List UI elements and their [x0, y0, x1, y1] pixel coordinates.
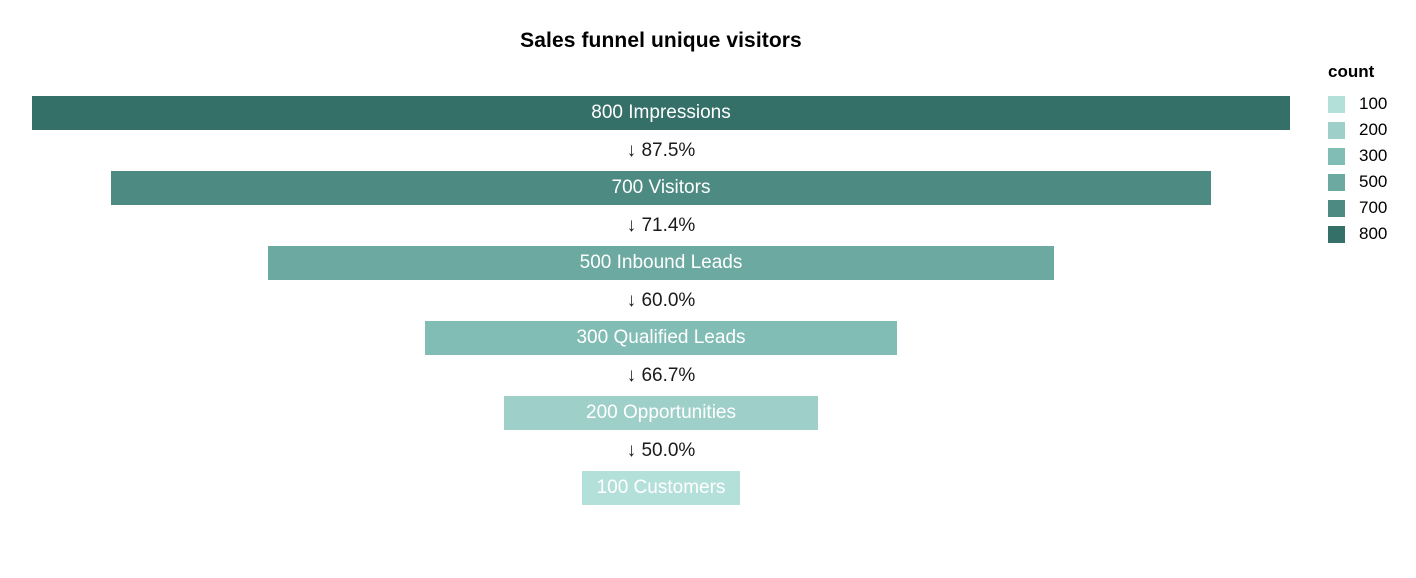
- funnel-bar[interactable]: 800 Impressions: [32, 96, 1290, 130]
- legend-item[interactable]: 500: [1328, 169, 1416, 195]
- legend-item[interactable]: 100: [1328, 91, 1416, 117]
- chart-title: Sales funnel unique visitors: [0, 27, 1322, 55]
- funnel-bar-label: 300 Qualified Leads: [576, 327, 745, 349]
- legend-title: count: [1328, 62, 1416, 82]
- legend-label: 300: [1359, 146, 1387, 166]
- funnel-bar-label: 500 Inbound Leads: [580, 252, 743, 274]
- legend-label: 700: [1359, 198, 1387, 218]
- legend-swatch: [1328, 148, 1345, 165]
- funnel-stage: 300 Qualified Leads: [0, 321, 1322, 355]
- funnel-stage: 700 Visitors: [0, 171, 1322, 205]
- funnel-stage: 100 Customers: [0, 471, 1322, 505]
- funnel-bar[interactable]: 100 Customers: [582, 471, 739, 505]
- legend-item[interactable]: 300: [1328, 143, 1416, 169]
- legend-swatch: [1328, 200, 1345, 217]
- funnel-conversion-row: ↓ 87.5%: [0, 130, 1322, 171]
- funnel-bar-label: 700 Visitors: [612, 177, 711, 199]
- legend-label: 200: [1359, 120, 1387, 140]
- legend-label: 100: [1359, 94, 1387, 114]
- legend-swatch: [1328, 174, 1345, 191]
- funnel-bar[interactable]: 300 Qualified Leads: [425, 321, 897, 355]
- funnel-conversion-row: ↓ 50.0%: [0, 430, 1322, 471]
- legend-item[interactable]: 200: [1328, 117, 1416, 143]
- funnel-conversion-row: ↓ 66.7%: [0, 355, 1322, 396]
- funnel-stack: 800 Impressions↓ 87.5%700 Visitors↓ 71.4…: [0, 96, 1322, 505]
- funnel-stage: 500 Inbound Leads: [0, 246, 1322, 280]
- funnel-conversion-label: ↓ 66.7%: [627, 365, 696, 387]
- funnel-bar-label: 100 Customers: [597, 477, 726, 499]
- funnel-bar-label: 200 Opportunities: [586, 402, 736, 424]
- funnel-bar[interactable]: 200 Opportunities: [504, 396, 819, 430]
- legend: count 100200300500700800: [1328, 62, 1416, 247]
- funnel-stage: 200 Opportunities: [0, 396, 1322, 430]
- legend-swatch: [1328, 122, 1345, 139]
- legend-items: 100200300500700800: [1328, 91, 1416, 247]
- funnel-conversion-label: ↓ 87.5%: [627, 140, 696, 162]
- legend-label: 500: [1359, 172, 1387, 192]
- funnel-bar-label: 800 Impressions: [591, 102, 730, 124]
- legend-swatch: [1328, 226, 1345, 243]
- legend-label: 800: [1359, 224, 1387, 244]
- funnel-conversion-row: ↓ 60.0%: [0, 280, 1322, 321]
- funnel-conversion-row: ↓ 71.4%: [0, 205, 1322, 246]
- funnel-conversion-label: ↓ 71.4%: [627, 215, 696, 237]
- funnel-stage: 800 Impressions: [0, 96, 1322, 130]
- legend-item[interactable]: 700: [1328, 195, 1416, 221]
- funnel-conversion-label: ↓ 50.0%: [627, 440, 696, 462]
- legend-item[interactable]: 800: [1328, 221, 1416, 247]
- funnel-chart: Sales funnel unique visitors 800 Impress…: [0, 0, 1416, 578]
- funnel-conversion-label: ↓ 60.0%: [627, 290, 696, 312]
- plot-area: 800 Impressions↓ 87.5%700 Visitors↓ 71.4…: [0, 96, 1322, 526]
- funnel-bar[interactable]: 500 Inbound Leads: [268, 246, 1054, 280]
- funnel-bar[interactable]: 700 Visitors: [111, 171, 1212, 205]
- legend-swatch: [1328, 96, 1345, 113]
